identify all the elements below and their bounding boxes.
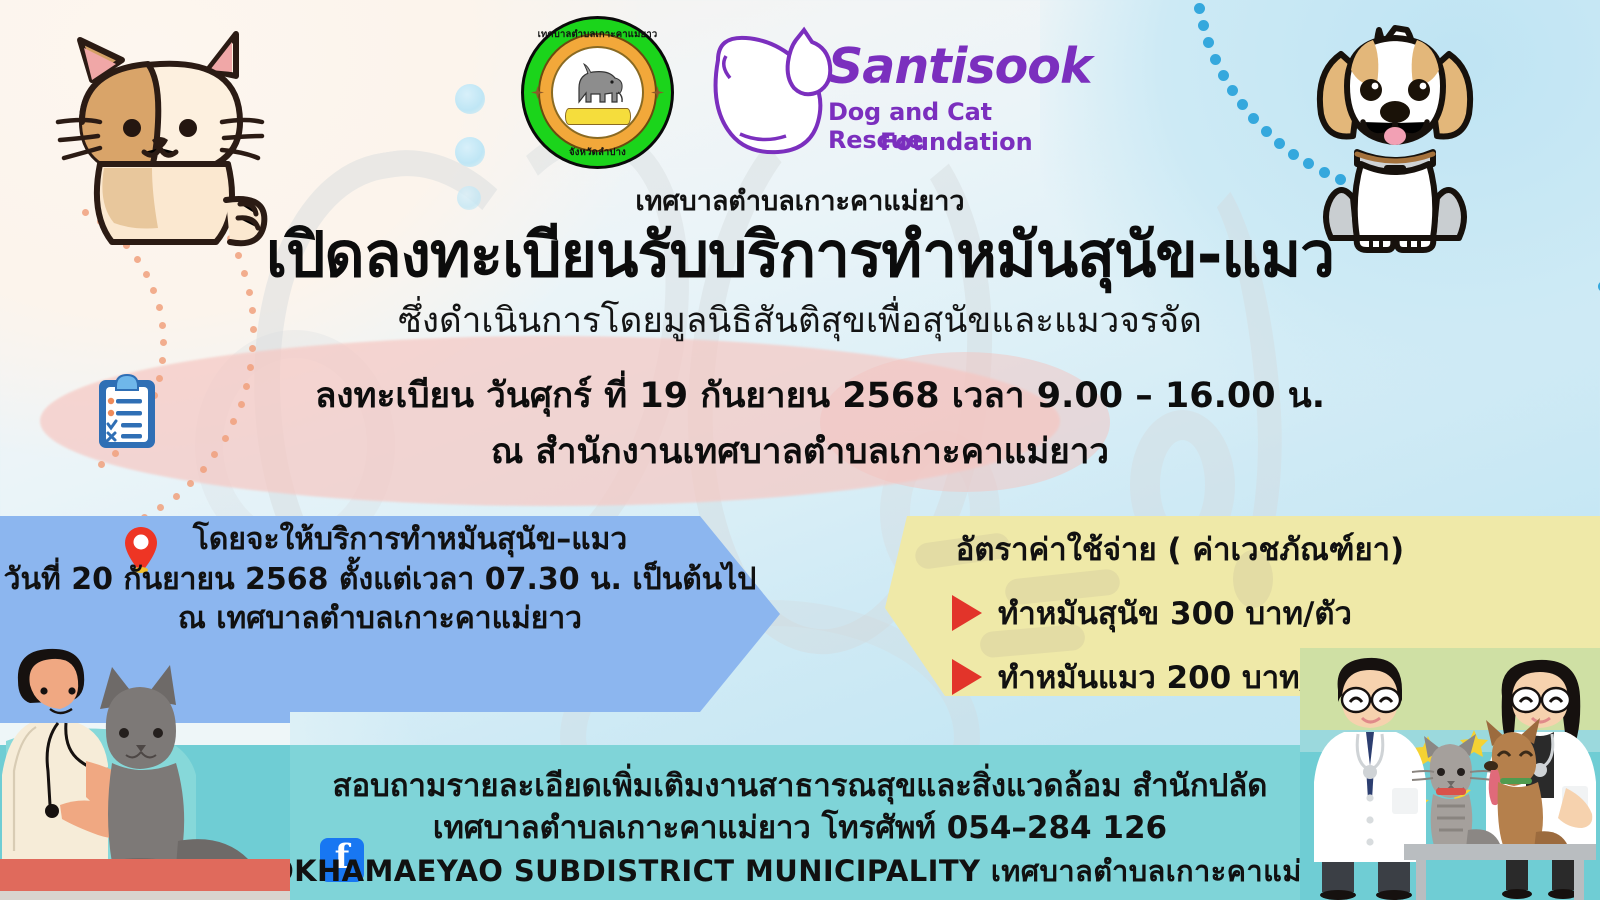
price-item-label: ทำหมันสุนัข 300 บาท/ตัว [998, 588, 1352, 638]
santisook-foundation-logo: Santisook Dog and Cat Rescue Foundation [700, 18, 1060, 158]
compass-star-icon [651, 86, 664, 99]
service-info-text: โดยจะให้บริการทำหมันสุนัข–แมว วันที่ 20 … [0, 520, 760, 639]
page-subtitle: ซึ่งดำเนินการโดยมูลนิธิสันติสุขเพื่อสุนั… [0, 293, 1600, 348]
seal-bottom-text: จังหวัดลำปาง [521, 145, 674, 160]
veterinarian-with-cat-illustration [0, 645, 290, 900]
service-line-2: วันที่ 20 กันยายน 2568 ตั้งแต่เวลา 07.30… [0, 560, 760, 600]
triangle-bullet-icon [952, 659, 982, 695]
decorative-dot [173, 493, 180, 500]
municipality-seal-logo: เทศบาลตำบลเกาะคาแม่ยาว จังหวัดลำปาง [521, 16, 674, 169]
price-item: ทำหมันสุนัข 300 บาท/ตัว [900, 588, 1460, 638]
service-line-3: ณ เทศบาลตำบลเกาะคาแม่ยาว [0, 599, 760, 639]
decorative-dot [159, 357, 166, 364]
cartoon-puppy-illustration [1295, 12, 1495, 257]
seal-top-text: เทศบาลตำบลเกาะคาแม่ยาว [521, 27, 674, 42]
santisook-name: Santisook [828, 38, 1092, 95]
decorative-dot [187, 480, 194, 487]
decorative-dot [157, 504, 164, 511]
compass-star-icon [531, 86, 544, 99]
registration-datetime: ลงทะเบียน วันศุกร์ ที่ 19 กันยายน 2568 เ… [0, 368, 1600, 423]
two-veterinarians-with-cat-and-dog-illustration [1300, 648, 1600, 900]
santisook-tagline-2: Foundation [880, 128, 1033, 156]
service-line-1: โดยจะให้บริการทำหมันสุนัข–แมว [0, 520, 760, 560]
price-heading: อัตราค่าใช้จ่าย ( ค่าเวชภัณฑ์ยา) [900, 524, 1460, 574]
elephant-icon [567, 62, 629, 110]
triangle-bullet-icon [952, 595, 982, 631]
seal-pedestal [565, 108, 631, 125]
cartoon-cat-illustration [40, 18, 300, 253]
price-item-label: ทำหมันแมว 200 บาท/ตัว [998, 652, 1348, 702]
registration-location: ณ สำนักงานเทศบาลตำบลเกาะคาแม่ยาว [0, 424, 1600, 479]
